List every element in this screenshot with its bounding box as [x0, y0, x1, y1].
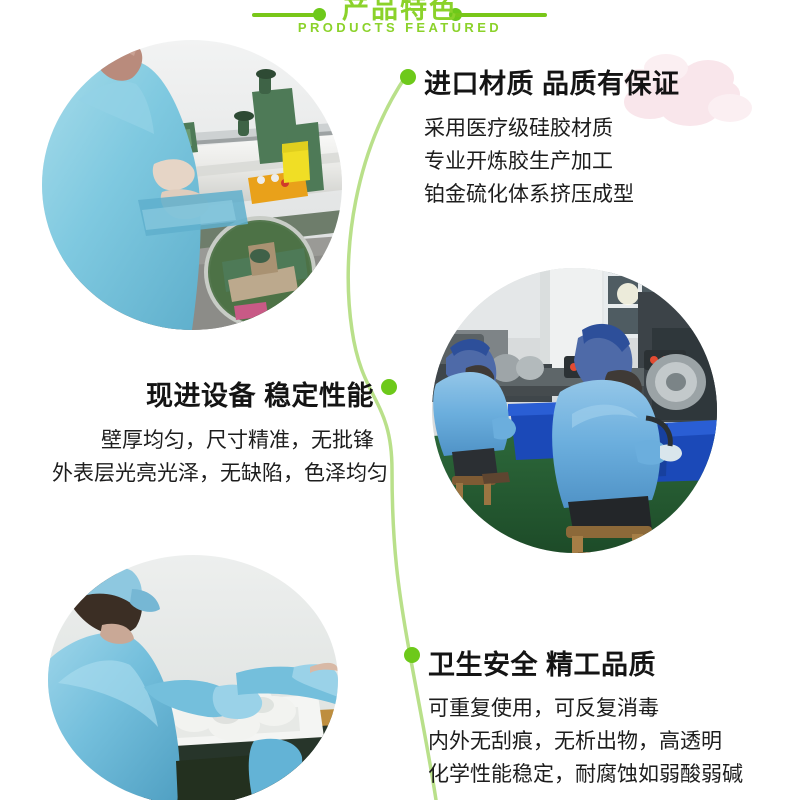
feature-1-line-3: 铂金硫化体系挤压成型 — [424, 178, 634, 211]
feature-2-lines: 壁厚均匀，尺寸精准，无批锋 外表层光亮光泽，无缺陷，色泽均匀 — [52, 424, 374, 490]
photo-workers-at-extrusion-line — [432, 268, 717, 553]
photo-worker-at-calender-machine — [42, 40, 342, 330]
product-features-page: 产品特色 PRODUCTS FEATURED — [0, 0, 800, 800]
feature-3-line-3: 化学性能稳定，耐腐蚀如弱酸弱碱 — [428, 758, 743, 791]
feature-2-title: 现进设备 稳定性能 — [146, 374, 374, 413]
feature-3-lines: 可重复使用，可反复消毒 内外无刮痕，无析出物，高透明 化学性能稳定，耐腐蚀如弱酸… — [428, 692, 743, 791]
feature-1-title: 进口材质 品质有保证 — [424, 62, 680, 101]
bullet-dot-section-2 — [381, 379, 397, 395]
bullet-dot-section-1 — [400, 69, 416, 85]
feature-1-lines: 采用医疗级硅胶材质 专业开炼胶生产加工 铂金硫化体系挤压成型 — [424, 112, 634, 211]
header-title-en: PRODUCTS FEATURED — [0, 20, 800, 35]
feature-3-title: 卫生安全 精工品质 — [428, 643, 656, 682]
feature-1-line-1: 采用医疗级硅胶材质 — [424, 112, 634, 145]
photo-worker-packing-silicone-sheet — [48, 555, 338, 800]
feature-3-line-2: 内外无刮痕，无析出物，高透明 — [428, 725, 743, 758]
feature-1-line-2: 专业开炼胶生产加工 — [424, 145, 634, 178]
feature-2-line-2: 外表层光亮光泽，无缺陷，色泽均匀 — [52, 457, 374, 490]
bullet-dot-section-3 — [404, 647, 420, 663]
feature-2-line-1: 壁厚均匀，尺寸精准，无批锋 — [52, 424, 374, 457]
feature-3-line-1: 可重复使用，可反复消毒 — [428, 692, 743, 725]
